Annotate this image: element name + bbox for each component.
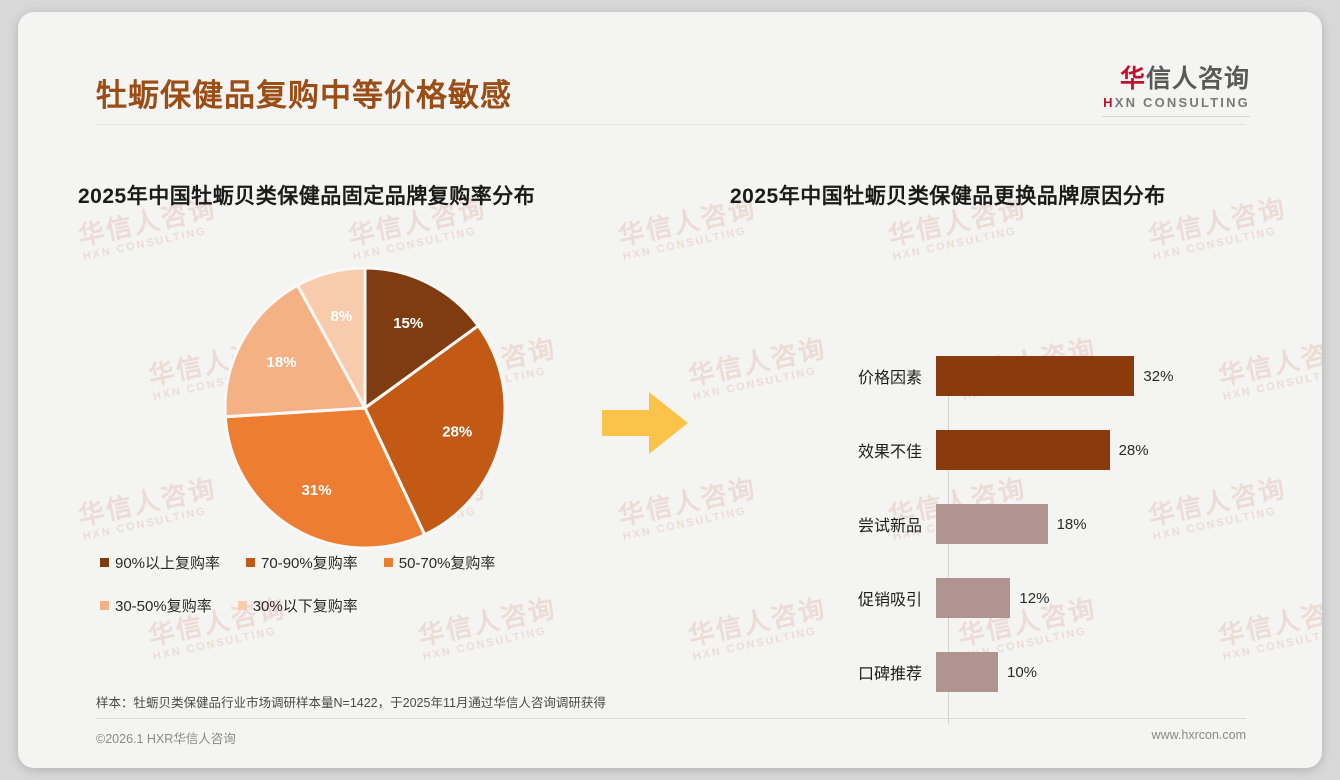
- bar-row[interactable]: 口碑推荐10%: [730, 652, 1290, 692]
- pie-chart-panel: 2025年中国牡蛎贝类保健品固定品牌复购率分布 15%28%31%18%8%: [78, 180, 678, 558]
- legend-item[interactable]: 30-50%复购率: [100, 595, 212, 616]
- logo-divider: [1102, 116, 1250, 117]
- legend-item[interactable]: 70-90%复购率: [246, 552, 358, 573]
- bar-category-label: 效果不佳: [730, 438, 936, 462]
- bar-fill[interactable]: [936, 430, 1110, 470]
- bar-row[interactable]: 尝试新品18%: [730, 504, 1290, 544]
- bar-chart-panel: 2025年中国牡蛎贝类保健品更换品牌原因分布 价格因素32%效果不佳28%尝试新…: [730, 180, 1290, 652]
- legend-label: 30-50%复购率: [115, 595, 212, 616]
- pie-slice-label: 8%: [330, 308, 352, 325]
- bar-category-label: 口碑推荐: [730, 660, 936, 684]
- legend-label: 70-90%复购率: [261, 552, 358, 573]
- page-title: 牡蛎保健品复购中等价格敏感: [96, 70, 512, 115]
- legend-swatch: [238, 601, 247, 610]
- bar-value-label: 28%: [1119, 442, 1149, 459]
- right-arrow-icon: [602, 390, 688, 456]
- legend-item[interactable]: 30%以下复购率: [238, 595, 358, 616]
- bar-category-label: 价格因素: [730, 364, 936, 388]
- legend-swatch: [100, 558, 109, 567]
- logo-english-text: HXN CONSULTING: [1102, 95, 1250, 110]
- bar-row[interactable]: 价格因素32%: [730, 356, 1290, 396]
- pie-slice-label: 28%: [442, 424, 472, 441]
- pie-legend: 90%以上复购率70-90%复购率50-70%复购率 30-50%复购率30%以…: [100, 552, 660, 638]
- bar-category-label: 促销吸引: [730, 586, 936, 610]
- bar-fill[interactable]: [936, 652, 998, 692]
- bar-chart-title: 2025年中国牡蛎贝类保健品更换品牌原因分布: [730, 180, 1290, 210]
- legend-swatch: [246, 558, 255, 567]
- legend-label: 30%以下复购率: [253, 595, 358, 616]
- header-divider: [96, 124, 1246, 125]
- footer-divider: [96, 718, 1246, 719]
- logo-en-rest: XN CONSULTING: [1115, 95, 1250, 110]
- bar-row[interactable]: 促销吸引12%: [730, 578, 1290, 618]
- bar-fill[interactable]: [936, 504, 1048, 544]
- slide: 华信人咨询HXN CONSULTING华信人咨询HXN CONSULTING华信…: [18, 12, 1322, 768]
- logo-cn-rest: 信人咨询: [1146, 65, 1250, 93]
- legend-label: 50-70%复购率: [399, 552, 496, 573]
- legend-label: 90%以上复购率: [115, 552, 220, 573]
- bar-chart-area: 价格因素32%效果不佳28%尝试新品18%促销吸引12%口碑推荐10%: [730, 262, 1290, 652]
- legend-swatch: [384, 558, 393, 567]
- copyright-text: ©2026.1 HXR华信人咨询: [96, 728, 236, 747]
- pie-slice-label: 15%: [393, 315, 423, 332]
- legend-item[interactable]: 50-70%复购率: [384, 552, 496, 573]
- legend-row-1: 90%以上复购率70-90%复购率50-70%复购率: [100, 552, 660, 573]
- slide-header: 牡蛎保健品复购中等价格敏感 华信人咨询 HXN CONSULTING: [18, 12, 1322, 120]
- sample-note: 样本：牡蛎贝类保健品行业市场调研样本量N=1422，于2025年11月通过华信人…: [96, 692, 606, 711]
- bar-value-label: 12%: [1019, 590, 1049, 607]
- bar-value-label: 18%: [1057, 516, 1087, 533]
- logo-hx-char: 华: [1120, 65, 1146, 93]
- bar-fill[interactable]: [936, 356, 1134, 396]
- website-text: www.hxrcon.com: [1152, 728, 1246, 747]
- pie-slice-label: 18%: [267, 354, 297, 371]
- logo-en-hx: H: [1103, 95, 1115, 110]
- pie-chart-area: 15%28%31%18%8%: [78, 258, 678, 558]
- company-logo: 华信人咨询 HXN CONSULTING: [1102, 66, 1250, 117]
- slide-footer: ©2026.1 HXR华信人咨询 www.hxrcon.com: [96, 728, 1246, 747]
- pie-chart-svg: 15%28%31%18%8%: [220, 258, 510, 558]
- pie-slice-label: 31%: [302, 482, 332, 499]
- bar-row[interactable]: 效果不佳28%: [730, 430, 1290, 470]
- bar-fill[interactable]: [936, 578, 1010, 618]
- legend-item[interactable]: 90%以上复购率: [100, 552, 220, 573]
- bar-value-label: 10%: [1007, 664, 1037, 681]
- bar-category-label: 尝试新品: [730, 512, 936, 536]
- pie-chart-title: 2025年中国牡蛎贝类保健品固定品牌复购率分布: [78, 180, 678, 210]
- legend-row-2: 30-50%复购率30%以下复购率: [100, 595, 660, 616]
- legend-swatch: [100, 601, 109, 610]
- bar-value-label: 32%: [1143, 368, 1173, 385]
- logo-chinese-text: 华信人咨询: [1102, 66, 1250, 92]
